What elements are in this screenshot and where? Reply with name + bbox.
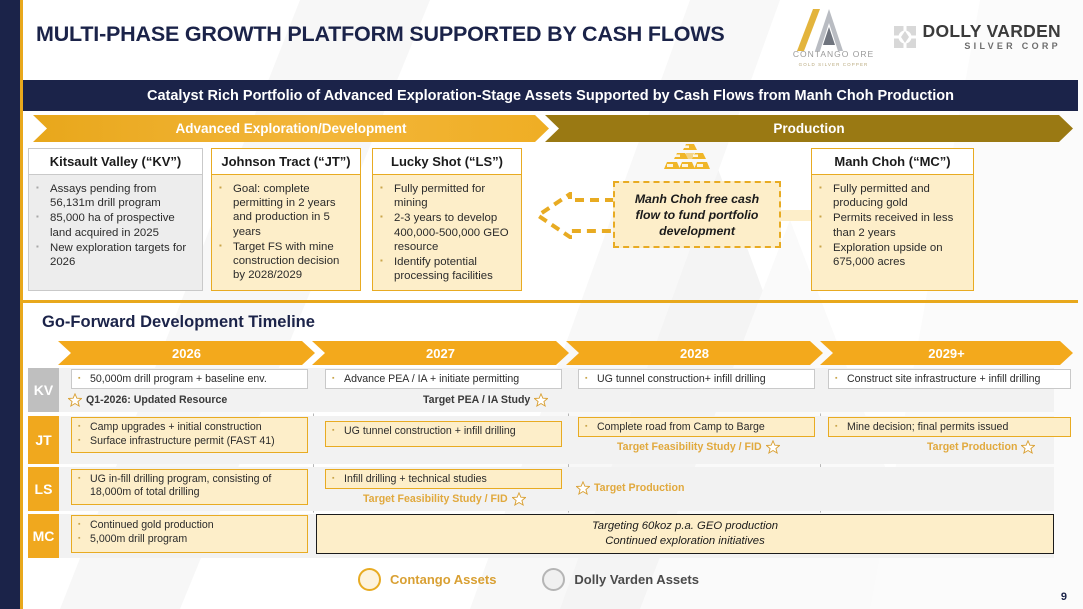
page-title: MULTI-PHASE GROWTH PLATFORM SUPPORTED BY…: [36, 22, 725, 47]
star-icon: [766, 440, 780, 454]
timeline-mc-production-band[interactable]: Targeting 60koz p.a. GEO production Cont…: [316, 514, 1054, 554]
row-tag-kv: KV: [28, 368, 59, 412]
asset-card-manh-choh[interactable]: Manh Choh (“MC”) Fully permitted and pro…: [811, 148, 974, 291]
star-icon: [68, 393, 82, 407]
milestone-label: Target PEA / IA Study: [423, 394, 530, 406]
year-label: 2026: [172, 346, 201, 361]
timeline-cell-kv-2026[interactable]: 50,000m drill program + baseline env.: [71, 369, 308, 389]
asset-bullet: Permits received in less than 2 years: [816, 211, 966, 239]
cell-bullet: Infill drilling + technical studies: [329, 473, 556, 486]
cashflow-arrow-left-icon: [536, 192, 616, 239]
milestone-label: Q1-2026: Updated Resource: [86, 394, 227, 406]
star-icon: [512, 492, 526, 506]
asset-card-lucky-shot[interactable]: Lucky Shot (“LS”) Fully permitted for mi…: [372, 148, 522, 291]
row-tag-label: LS: [35, 481, 53, 497]
logo-group: CONTANGO ORE GOLD SILVER COPPER DOLLY VA…: [786, 6, 1061, 68]
star-icon: [534, 393, 548, 407]
cell-bullet: Mine decision; final permits issued: [832, 421, 1065, 434]
year-label: 2027: [426, 346, 455, 361]
contango-ore-logo: CONTANGO ORE GOLD SILVER COPPER: [786, 7, 882, 67]
mc-band-line-2: Continued exploration initiatives: [605, 534, 765, 549]
asset-bullet: New exploration targets for 2026: [33, 241, 195, 269]
cell-bullet: 50,000m drill program + baseline env.: [75, 373, 302, 386]
asset-card-title: Manh Choh (“MC”): [812, 149, 973, 175]
cell-bullet: Camp upgrades + initial construction: [75, 421, 302, 434]
year-label: 2028: [680, 346, 709, 361]
cashflow-callout-text: Manh Choh free cash flow to fund portfol…: [635, 191, 759, 239]
legend: Contango Assets Dolly Varden Assets: [358, 568, 699, 591]
cell-bullet: Continued gold production: [75, 519, 302, 532]
asset-card-body: Fully permitted and producing gold Permi…: [812, 175, 973, 290]
asset-bullet: Goal: complete permitting in 2 years and…: [216, 182, 353, 239]
year-chevron-2029plus: 2029+: [820, 341, 1073, 365]
legend-swatch-gray-icon: [542, 568, 565, 591]
asset-card-title: Lucky Shot (“LS”): [373, 149, 521, 175]
left-navy-band: [0, 0, 20, 609]
asset-bullet: Target FS with mine construction decisio…: [216, 240, 353, 283]
callout-line-2: flow to fund portfolio: [635, 207, 759, 223]
asset-bullet: 85,000 ha of prospective land acquired i…: [33, 211, 195, 239]
asset-bullet: Identify potential processing facilities: [377, 255, 514, 283]
timeline-cell-jt-2028[interactable]: Complete road from Camp to Barge: [578, 417, 815, 437]
timeline-cell-ls-2026[interactable]: UG in-fill drilling program, consisting …: [71, 469, 308, 505]
dolly-varden-mark-icon: [894, 26, 916, 48]
slide-header: MULTI-PHASE GROWTH PLATFORM SUPPORTED BY…: [23, 0, 1083, 74]
asset-card-title: Kitsault Valley (“KV”): [29, 149, 202, 175]
asset-card-title: Johnson Tract (“JT”): [212, 149, 360, 175]
asset-bullet: Exploration upside on 675,000 acres: [816, 241, 966, 269]
cell-bullet: UG in-fill drilling program, consisting …: [75, 473, 302, 499]
row-tag-label: MC: [33, 528, 55, 544]
timeline-cell-jt-2027[interactable]: UG tunnel construction + infill drilling: [325, 421, 562, 447]
year-chevron-2028: 2028: [566, 341, 823, 365]
timeline-divider: [23, 300, 1078, 303]
slide-canvas: MULTI-PHASE GROWTH PLATFORM SUPPORTED BY…: [0, 0, 1083, 609]
legend-swatch-gold-icon: [358, 568, 381, 591]
cell-bullet: Construct site infrastructure + infill d…: [832, 373, 1065, 386]
milestone-label: Target Production: [594, 482, 684, 494]
dolly-varden-subtitle: SILVER CORP: [923, 42, 1061, 51]
legend-item-dolly-varden: Dolly Varden Assets: [542, 568, 699, 591]
star-icon: [1021, 440, 1035, 454]
asset-bullet: Fully permitted and producing gold: [816, 182, 966, 210]
cell-bullet: UG tunnel construction + infill drilling: [329, 425, 556, 438]
cell-bullet: 5,000m drill program: [75, 533, 302, 546]
asset-card-body: Assays pending from 56,131m drill progra…: [29, 175, 202, 290]
phase-chevron-production: Production: [545, 115, 1073, 142]
timeline-cell-jt-2026[interactable]: Camp upgrades + initial construction Sur…: [71, 417, 308, 453]
timeline-cell-jt-2029plus[interactable]: Mine decision; final permits issued: [828, 417, 1071, 437]
milestone-kv-2027: Target PEA / IA Study: [423, 393, 548, 407]
asset-card-kitsault-valley[interactable]: Kitsault Valley (“KV”) Assays pending fr…: [28, 148, 203, 291]
asset-bullet: Assays pending from 56,131m drill progra…: [33, 182, 195, 210]
phase-label: Advanced Exploration/Development: [175, 121, 406, 136]
row-tag-ls: LS: [28, 467, 59, 511]
year-label: 2029+: [928, 346, 965, 361]
milestone-jt-2029plus: Target Production: [927, 440, 1035, 454]
asset-card-johnson-tract[interactable]: Johnson Tract (“JT”) Goal: complete perm…: [211, 148, 361, 291]
row-tag-label: JT: [35, 432, 51, 448]
milestone-ls-2027: Target Feasibility Study / FID: [363, 492, 526, 506]
cell-bullet: Surface infrastructure permit (FAST 41): [75, 435, 302, 448]
year-chevron-2026: 2026: [58, 341, 315, 365]
milestone-ls-2028: Target Production: [576, 481, 684, 495]
timeline-year-group: 2026 2027 2028 2029+: [58, 341, 1073, 365]
phase-chevron-advanced-exploration: Advanced Exploration/Development: [33, 115, 549, 142]
dolly-varden-name: DOLLY VARDEN: [923, 23, 1061, 41]
legend-item-contango: Contango Assets: [358, 568, 496, 591]
milestone-label: Target Production: [927, 441, 1017, 453]
cell-bullet: Advance PEA / IA + initiate permitting: [329, 373, 556, 386]
asset-bullet: 2-3 years to develop 400,000-500,000 GEO…: [377, 211, 514, 254]
milestone-jt-2028: Target Feasibility Study / FID: [617, 440, 780, 454]
year-chevron-2027: 2027: [312, 341, 569, 365]
callout-line-3: development: [635, 223, 759, 239]
asset-card-body: Goal: complete permitting in 2 years and…: [212, 175, 360, 290]
row-tag-mc: MC: [28, 514, 59, 558]
subtitle-text: Catalyst Rich Portfolio of Advanced Expl…: [147, 88, 954, 104]
gold-bars-icon: [663, 143, 717, 177]
timeline-cell-kv-2029plus[interactable]: Construct site infrastructure + infill d…: [828, 369, 1071, 389]
contango-wordmark: CONTANGO ORE: [786, 49, 882, 59]
cashflow-connector-right-icon: [778, 200, 814, 230]
contango-tagline: GOLD SILVER COPPER: [786, 62, 882, 67]
asset-bullet: Fully permitted for mining: [377, 182, 514, 210]
row-tag-jt: JT: [28, 416, 59, 464]
mc-band-line-1: Targeting 60koz p.a. GEO production: [592, 519, 778, 534]
phase-label: Production: [773, 121, 844, 136]
dolly-varden-logo: DOLLY VARDEN SILVER CORP: [894, 23, 1061, 52]
asset-card-body: Fully permitted for mining 2-3 years to …: [373, 175, 521, 290]
row-tag-label: KV: [34, 382, 53, 398]
page-number: 9: [1061, 591, 1067, 603]
timeline-cell-ls-2027[interactable]: Infill drilling + technical studies: [325, 469, 562, 489]
timeline-heading: Go-Forward Development Timeline: [42, 313, 315, 332]
timeline-cell-kv-2028[interactable]: UG tunnel construction+ infill drilling: [578, 369, 815, 389]
cashflow-callout: Manh Choh free cash flow to fund portfol…: [613, 181, 781, 248]
timeline-cell-mc-2026[interactable]: Continued gold production 5,000m drill p…: [71, 515, 308, 553]
contango-mountain-icon: [786, 7, 882, 53]
milestone-label: Target Feasibility Study / FID: [363, 493, 508, 505]
legend-label: Dolly Varden Assets: [574, 572, 699, 587]
callout-line-1: Manh Choh free cash: [635, 191, 759, 207]
phase-chevron-group: Advanced Exploration/Development Product…: [33, 115, 1073, 142]
timeline-cell-kv-2027[interactable]: Advance PEA / IA + initiate permitting: [325, 369, 562, 389]
subtitle-bar: Catalyst Rich Portfolio of Advanced Expl…: [23, 80, 1078, 111]
star-icon: [576, 481, 590, 495]
cell-bullet: UG tunnel construction+ infill drilling: [582, 373, 809, 386]
cell-bullet: Complete road from Camp to Barge: [582, 421, 809, 434]
legend-label: Contango Assets: [390, 572, 496, 587]
milestone-label: Target Feasibility Study / FID: [617, 441, 762, 453]
milestone-kv-2026: Q1-2026: Updated Resource: [68, 393, 227, 407]
